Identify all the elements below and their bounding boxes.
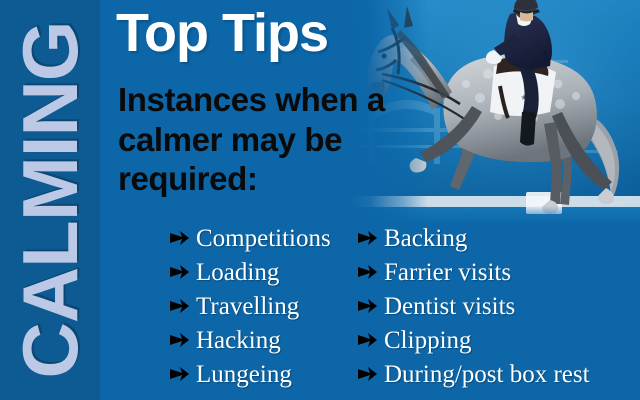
arrow-bullet-icon: [358, 299, 384, 313]
vertical-category-strip: CALMING: [0, 0, 100, 400]
arrow-bullet-icon: [358, 265, 384, 279]
arrow-bullet-icon: [358, 367, 384, 381]
list-item-label: Dentist visits: [384, 294, 515, 319]
page-title: Top Tips: [116, 4, 328, 62]
arrow-bullet-icon: [170, 367, 196, 381]
dressage-horse-photo: ★: [348, 0, 640, 224]
list-item: Travelling: [170, 294, 360, 328]
list-item-label: Clipping: [384, 328, 472, 353]
list-item: Lungeing: [170, 362, 360, 396]
list-item-label: During/post box rest: [384, 362, 590, 387]
list-item: Loading: [170, 260, 360, 294]
page-subtitle: Instances when a calmer may be required:: [118, 80, 388, 199]
list-item: Dentist visits: [358, 294, 640, 328]
tips-list-left: Competitions Loading Travelling Hacking …: [170, 226, 360, 396]
arrow-bullet-icon: [358, 333, 384, 347]
tips-list-right: Backing Farrier visits Dentist visits Cl…: [358, 226, 640, 396]
list-item-label: Competitions: [196, 226, 331, 251]
vertical-category-label: CALMING: [11, 22, 89, 379]
list-item: Clipping: [358, 328, 640, 362]
arrow-bullet-icon: [358, 231, 384, 245]
list-item-label: Lungeing: [196, 362, 292, 387]
poster-canvas: CALMING: [0, 0, 640, 400]
list-item: Competitions: [170, 226, 360, 260]
list-item-label: Backing: [384, 226, 467, 251]
list-item: During/post box rest: [358, 362, 640, 396]
arrow-bullet-icon: [170, 333, 196, 347]
list-item-label: Travelling: [196, 294, 299, 319]
arrow-bullet-icon: [170, 265, 196, 279]
list-item-label: Hacking: [196, 328, 281, 353]
list-item: Farrier visits: [358, 260, 640, 294]
list-item-label: Farrier visits: [384, 260, 511, 285]
arrow-bullet-icon: [170, 299, 196, 313]
list-item-label: Loading: [196, 260, 279, 285]
list-item: Hacking: [170, 328, 360, 362]
arrow-bullet-icon: [170, 231, 196, 245]
list-item: Backing: [358, 226, 640, 260]
